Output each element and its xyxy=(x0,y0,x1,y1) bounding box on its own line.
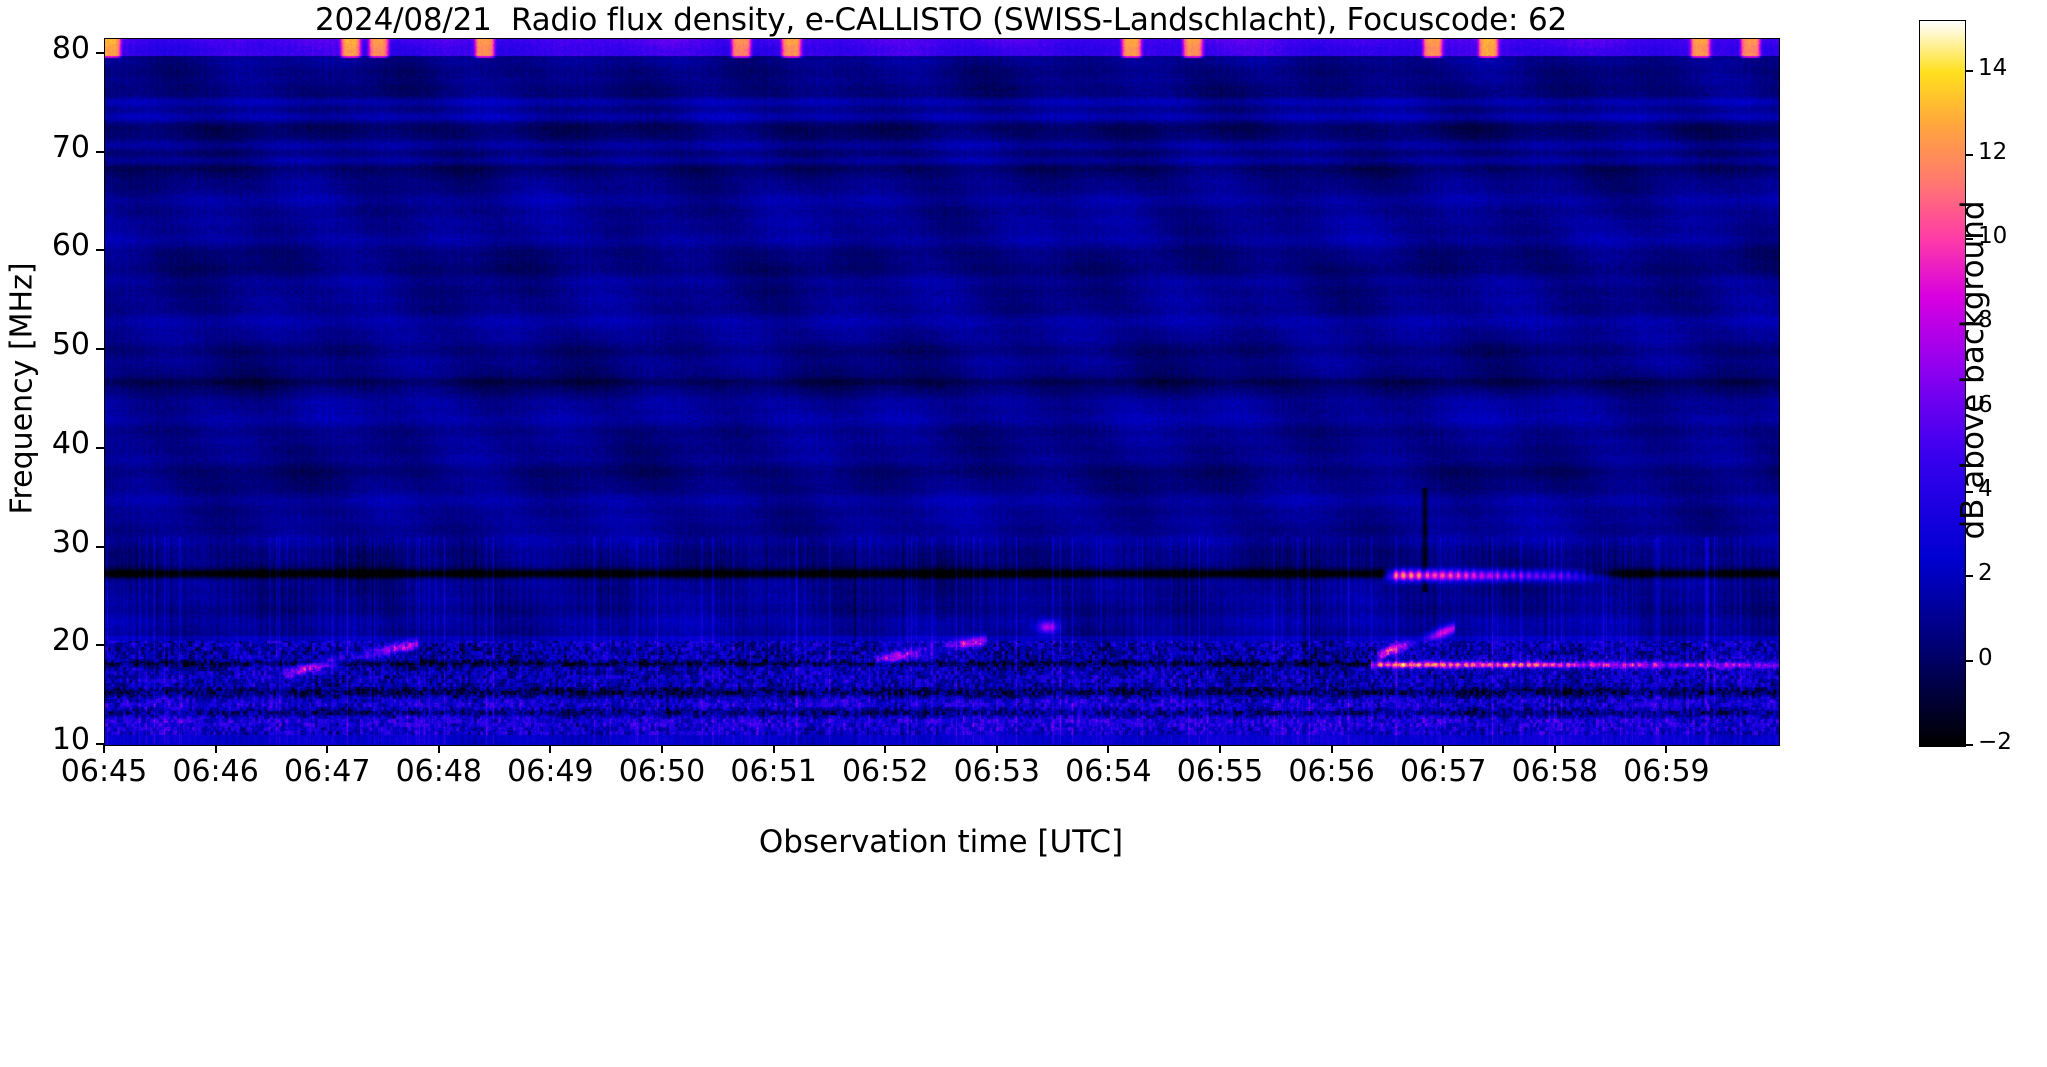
x-tick-mark xyxy=(1554,745,1556,753)
x-tick-mark xyxy=(884,745,886,753)
colorbar-tick-mark xyxy=(1965,660,1973,662)
x-tick-mark xyxy=(326,745,328,753)
spectrogram-axes xyxy=(104,38,1780,746)
colorbar-tick-label: 0 xyxy=(1978,647,1993,670)
x-axis-label: Observation time [UTC] xyxy=(104,824,1778,860)
x-tick-mark xyxy=(996,745,998,753)
x-tick-mark xyxy=(1442,745,1444,753)
colorbar-tick-mark xyxy=(1965,70,1973,72)
colorbar-tick-label: 14 xyxy=(1978,57,2007,80)
colorbar-label: dB above background xyxy=(1955,150,1991,590)
x-tick-mark xyxy=(661,745,663,753)
page-title: 2024/08/21 Radio flux density, e-CALLIST… xyxy=(104,2,1778,38)
y-tick-label: 20 xyxy=(52,626,90,656)
x-tick-mark xyxy=(103,745,105,753)
y-tick-mark xyxy=(96,151,104,153)
x-tick-label: 06:59 xyxy=(1596,757,1736,787)
x-tick-mark xyxy=(1219,745,1221,753)
spectrogram-image xyxy=(105,39,1779,745)
y-tick-label: 10 xyxy=(52,725,90,755)
x-tick-mark xyxy=(438,745,440,753)
y-tick-mark xyxy=(96,52,104,54)
x-tick-mark xyxy=(1331,745,1333,753)
colorbar-tick-label: −2 xyxy=(1978,731,2012,754)
y-tick-mark xyxy=(96,348,104,350)
y-tick-label: 50 xyxy=(52,330,90,360)
x-tick-mark xyxy=(773,745,775,753)
x-tick-mark xyxy=(215,745,217,753)
y-tick-mark xyxy=(96,546,104,548)
x-tick-mark xyxy=(1665,745,1667,753)
y-tick-mark xyxy=(96,249,104,251)
x-tick-mark xyxy=(1107,745,1109,753)
figure-canvas: 2024/08/21 Radio flux density, e-CALLIST… xyxy=(0,0,2047,1067)
x-tick-mark xyxy=(549,745,551,753)
colorbar-tick-mark xyxy=(1965,744,1973,746)
y-tick-label: 70 xyxy=(52,133,90,163)
y-tick-label: 80 xyxy=(52,34,90,64)
y-tick-label: 40 xyxy=(52,429,90,459)
y-tick-label: 30 xyxy=(52,528,90,558)
y-tick-mark xyxy=(96,644,104,646)
y-tick-label: 60 xyxy=(52,231,90,261)
y-tick-mark xyxy=(96,447,104,449)
y-axis-label: Frequency [MHz] xyxy=(5,19,40,759)
